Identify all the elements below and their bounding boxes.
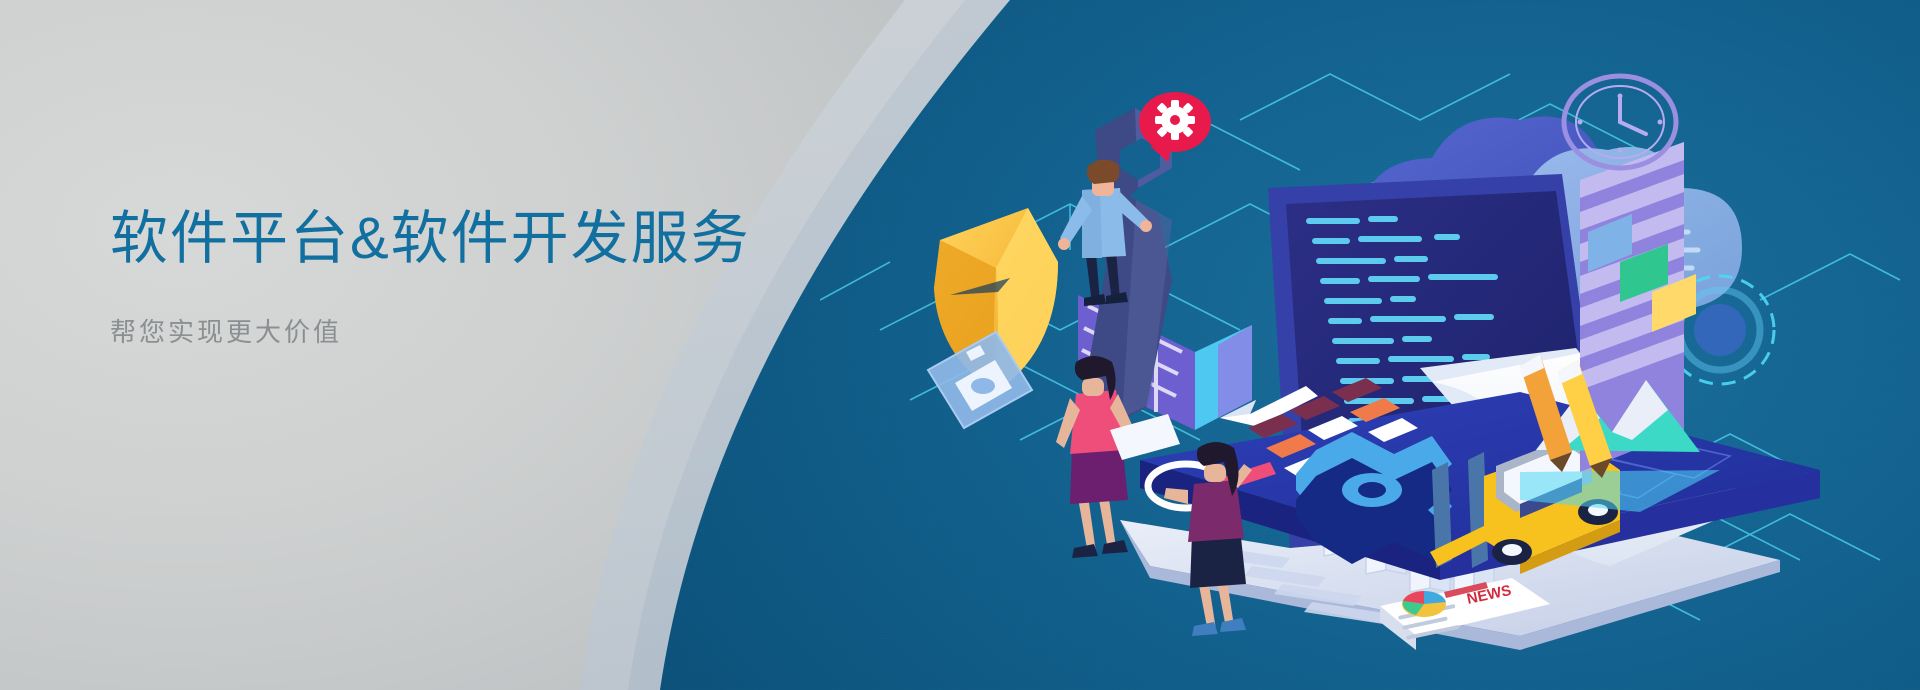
banner-headline: 软件平台&软件开发服务 bbox=[110, 205, 830, 272]
hero-banner: 软件平台&软件开发服务 帮您实现更大价值 bbox=[0, 0, 1920, 690]
hero-illustration: NEWS bbox=[820, 0, 1920, 690]
banner-subtitle: 帮您实现更大价值 bbox=[110, 312, 830, 349]
banner-text-block: 软件平台&软件开发服务 帮您实现更大价值 bbox=[110, 205, 830, 349]
pie-chart-icon bbox=[1402, 591, 1446, 617]
